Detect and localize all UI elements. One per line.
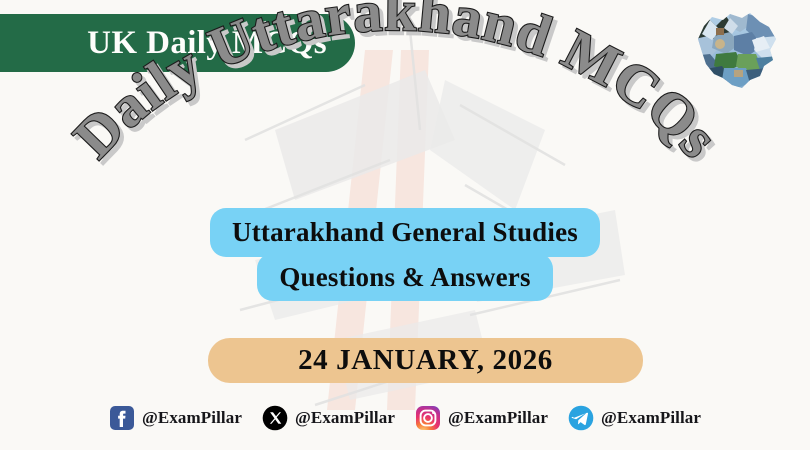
instagram-icon[interactable] <box>415 405 441 431</box>
headline-line-2-holder: Questions & Answers <box>0 253 810 302</box>
headline-line-2: Questions & Answers <box>257 253 552 302</box>
date-text: 24 JANUARY, 2026 <box>298 344 553 377</box>
x-handle: @ExamPillar <box>295 408 395 428</box>
facebook-handle: @ExamPillar <box>142 408 242 428</box>
map-shape <box>690 6 782 94</box>
uttarakhand-state-map-icon <box>690 6 782 94</box>
social-item-telegram[interactable]: @ExamPillar <box>568 405 701 431</box>
facebook-icon[interactable] <box>109 405 135 431</box>
date-banner: 24 JANUARY, 2026 <box>208 338 643 383</box>
social-footer: @ExamPillar @ExamPillar <box>0 400 810 436</box>
instagram-handle: @ExamPillar <box>448 408 548 428</box>
x-twitter-icon[interactable] <box>262 405 288 431</box>
headline-block: Uttarakhand General Studies Questions & … <box>0 208 810 301</box>
telegram-icon[interactable] <box>568 405 594 431</box>
poster-canvas: UK Daily MCQs <box>0 0 810 450</box>
headline-line-1: Uttarakhand General Studies <box>210 208 600 257</box>
social-item-instagram[interactable]: @ExamPillar <box>415 405 548 431</box>
social-item-x[interactable]: @ExamPillar <box>262 405 395 431</box>
telegram-handle: @ExamPillar <box>601 408 701 428</box>
social-item-facebook[interactable]: @ExamPillar <box>109 405 242 431</box>
